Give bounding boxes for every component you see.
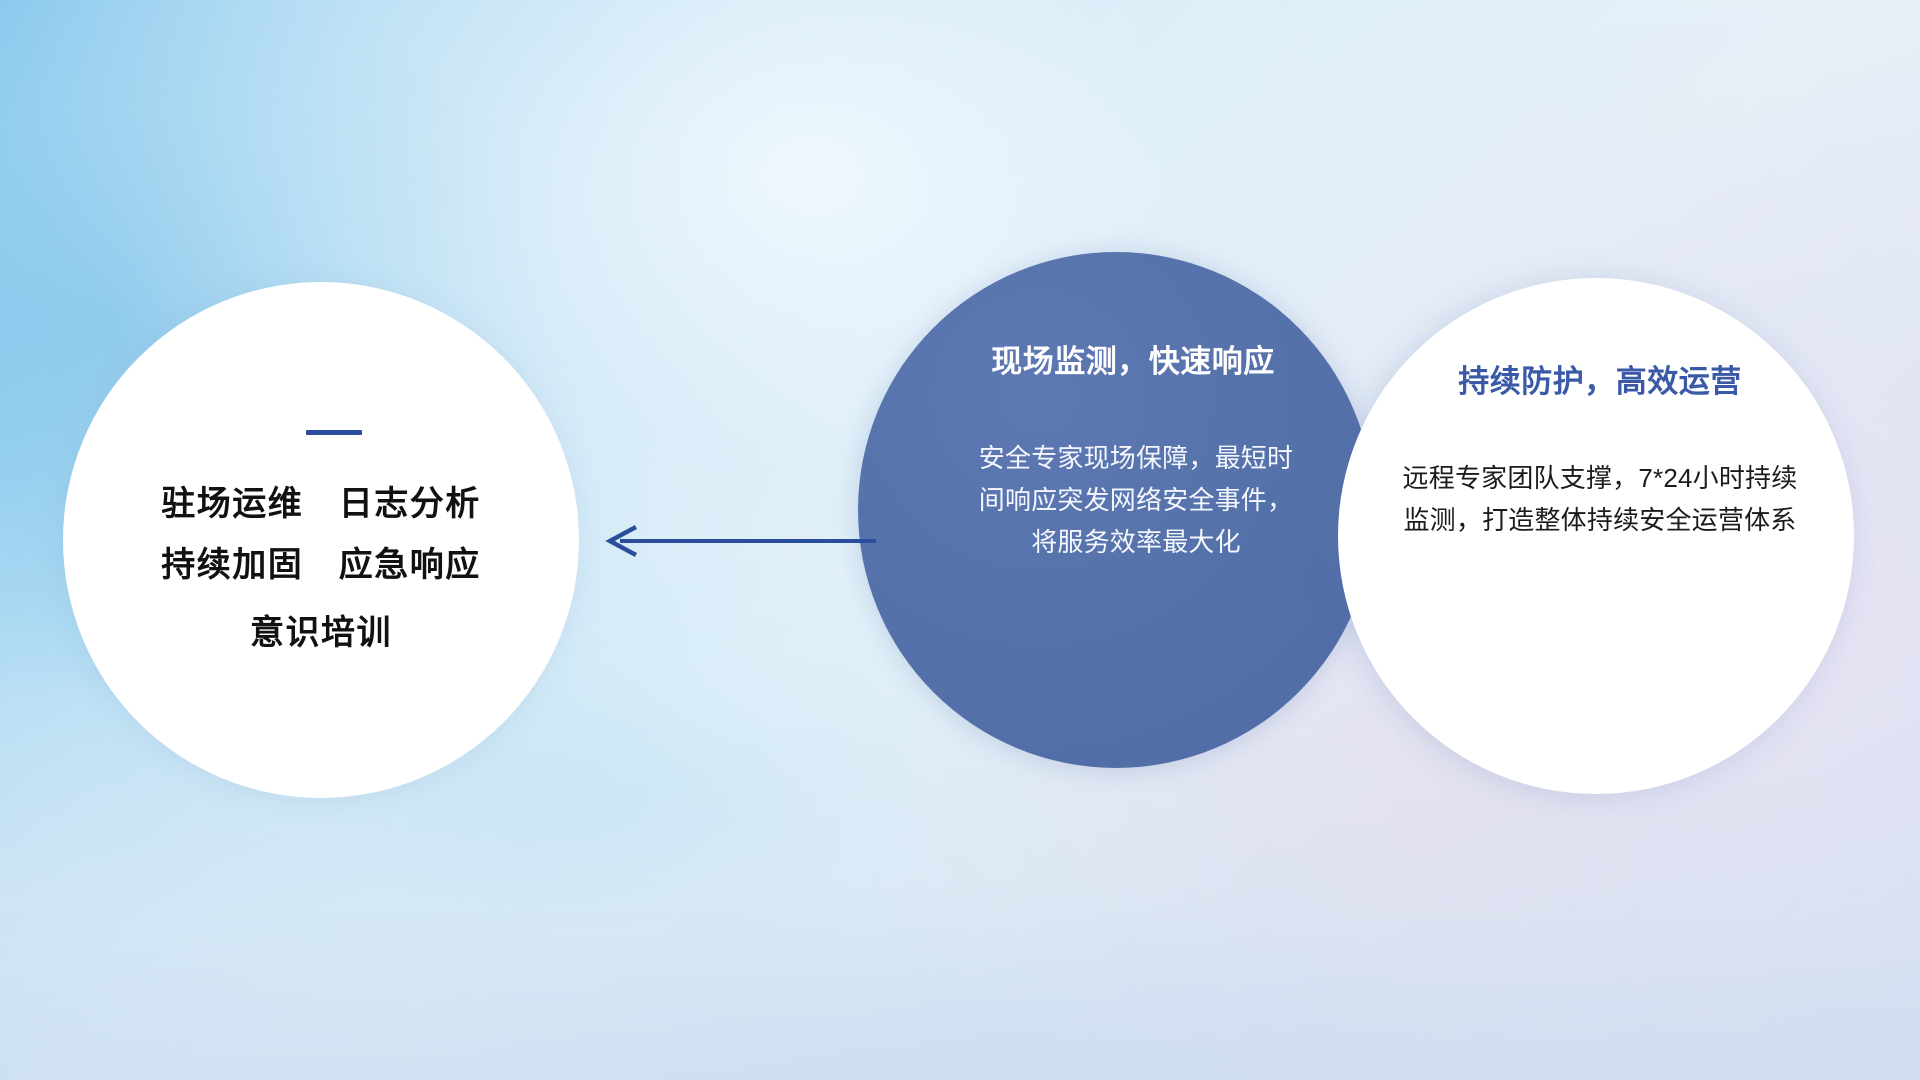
- right-card-body: 远程专家团队支撑，7*24小时持续监测，打造整体持续安全运营体系: [1400, 457, 1800, 541]
- right-card-title: 持续防护，高效运营: [1458, 356, 1742, 401]
- keyword-line-3: 意识培训: [250, 616, 392, 650]
- middle-card-body: 安全专家现场保障，最短时间响应突发网络安全事件，将服务效率最大化: [971, 437, 1301, 563]
- slide-canvas: 驻场运维 日志分析 持续加固 应急响应 意识培训 现场监测，快速响应 安全专家现…: [0, 0, 1920, 1080]
- middle-card-title: 现场监测，快速响应: [991, 336, 1275, 381]
- left-card-divider: [306, 430, 362, 435]
- right-card-content: 持续防护，高效运营 远程专家团队支撑，7*24小时持续监测，打造整体持续安全运营…: [1360, 278, 1840, 794]
- left-card-content: 驻场运维 日志分析 持续加固 应急响应 意识培训: [63, 282, 579, 798]
- keyword-line-2: 持续加固 应急响应: [161, 548, 481, 582]
- keyword-line-1: 驻场运维 日志分析: [161, 487, 481, 521]
- middle-card-content: 现场监测，快速响应 安全专家现场保障，最短时间响应突发网络安全事件，将服务效率最…: [880, 252, 1352, 768]
- arrow-left-icon: [596, 522, 876, 560]
